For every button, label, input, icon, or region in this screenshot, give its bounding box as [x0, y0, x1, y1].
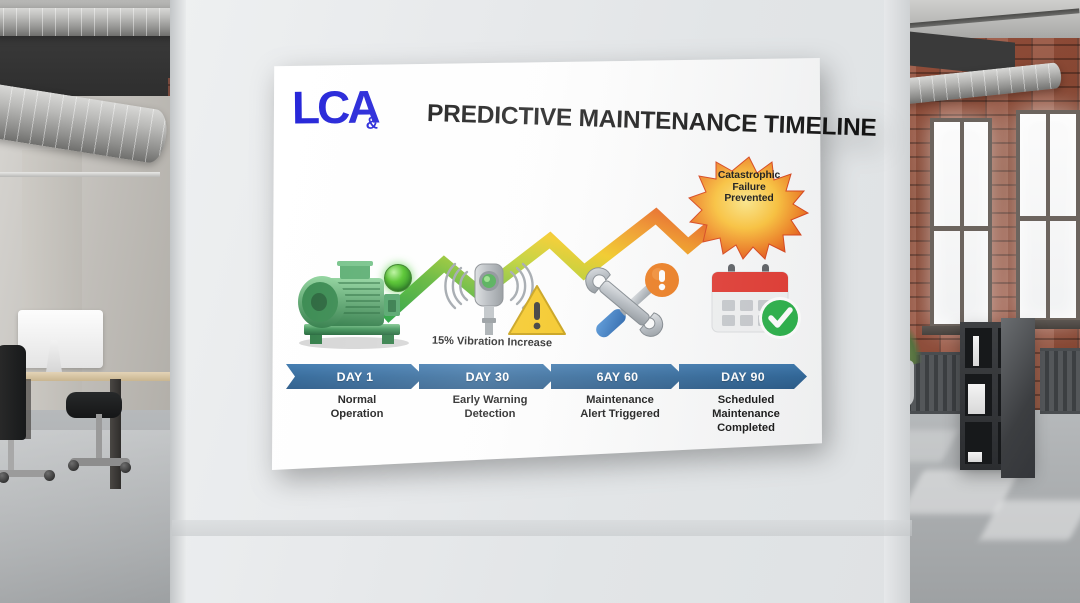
timeline-chevron-day-60[interactable]: 6AY 60: [551, 364, 684, 389]
timeline-chevron-label: DAY 1: [337, 370, 374, 384]
timeline-chevron-label: DAY 90: [721, 370, 765, 384]
timeline-chevron-day-1[interactable]: DAY 1: [286, 364, 424, 389]
shelf-object-2: [968, 384, 985, 414]
caption-line-1: Early Warning: [424, 394, 556, 408]
partition-wall-left-edge: [170, 0, 186, 603]
timeline-chevron-day-90[interactable]: DAY 90: [679, 364, 807, 389]
office-chair-post-back: [96, 414, 102, 464]
timeline-caption-day-60: Maintenance Alert Triggered: [554, 394, 686, 422]
timeline-captions-row: Normal Operation Early Warning Detection…: [286, 394, 810, 454]
chair-caster-2: [120, 462, 131, 473]
timeline-caption-day-90: Scheduled Maintenance Completed: [682, 394, 810, 436]
chair-caster-4: [44, 470, 55, 481]
radiator-right: [1040, 348, 1080, 414]
desk-surface: [18, 372, 178, 381]
logo-text: LCA: [292, 81, 378, 134]
pipe-rail-left: [0, 172, 160, 177]
banner-content: LCA& PREDICTIVE MAINTENANCE TIMELINE: [272, 58, 822, 470]
caption-line-2: Operation: [292, 408, 422, 422]
starburst-line-3: Prevented: [688, 193, 810, 205]
caption-line-1: Scheduled: [682, 394, 810, 408]
electric-motor-icon: [288, 250, 418, 355]
stage-icons-row: [272, 254, 822, 370]
caption-line-2: Alert Triggered: [554, 408, 686, 422]
shelf-object-1: [973, 336, 979, 366]
timeline-chevron-label: 6AY 60: [597, 370, 639, 384]
caption-line-3: Completed: [682, 422, 810, 436]
caption-line-1: Normal: [292, 394, 422, 408]
page-title: PREDICTIVE MAINTENANCE TIMELINE: [427, 100, 808, 141]
caption-line-2: Maintenance: [682, 408, 810, 422]
calendar-check-svg: [700, 260, 812, 342]
starburst-line-2: Failure: [688, 182, 810, 194]
desktop-monitor: [18, 310, 103, 368]
timeline-caption-day-1: Normal Operation: [292, 394, 422, 422]
timeline-chevron-label: DAY 30: [466, 370, 510, 384]
wrench-screwdriver-svg: [572, 260, 688, 342]
timeline-caption-day-30: Early Warning Detection: [424, 394, 556, 422]
calendar-check-icon: [700, 260, 812, 347]
starburst-line-1: Catastrophic: [688, 170, 810, 182]
chair-gas-lift: [8, 440, 14, 472]
office-chair-seat-back: [66, 392, 122, 418]
window-mullion-vertical-a: [960, 118, 964, 328]
wall-mounted-banner: LCA& PREDICTIVE MAINTENANCE TIMELINE: [272, 58, 822, 470]
wrench-screwdriver-icon: [572, 260, 688, 347]
screenshot-stage: LCA& PREDICTIVE MAINTENANCE TIMELINE: [0, 0, 1080, 603]
shelf-object-4: [968, 452, 982, 462]
window-mullion-horizontal-a: [930, 226, 992, 231]
vibration-sensor-svg: [437, 256, 569, 342]
timeline-chevron-day-30[interactable]: DAY 30: [419, 364, 556, 389]
logo-ampersand: &: [366, 114, 378, 133]
partition-wall-base-shadow: [172, 520, 912, 536]
shelving-side-panel: [1001, 318, 1035, 478]
vibration-sensor-icon: [437, 256, 569, 347]
lca-logo: LCA&: [292, 83, 390, 130]
caption-line-2: Detection: [424, 408, 556, 422]
starburst-caption: Catastrophic Failure Prevented: [688, 170, 810, 205]
timeline-chevron-row: DAY 1 DAY 30 6AY 60 DAY 90: [286, 364, 810, 390]
window-mullion-horizontal-b: [1016, 216, 1080, 221]
office-chair-backrest-front: [0, 345, 26, 440]
partition-wall-right-edge: [884, 0, 910, 603]
caption-line-1: Maintenance: [554, 394, 686, 408]
chair-caster-1: [68, 460, 79, 471]
electric-motor-svg: [288, 250, 418, 350]
